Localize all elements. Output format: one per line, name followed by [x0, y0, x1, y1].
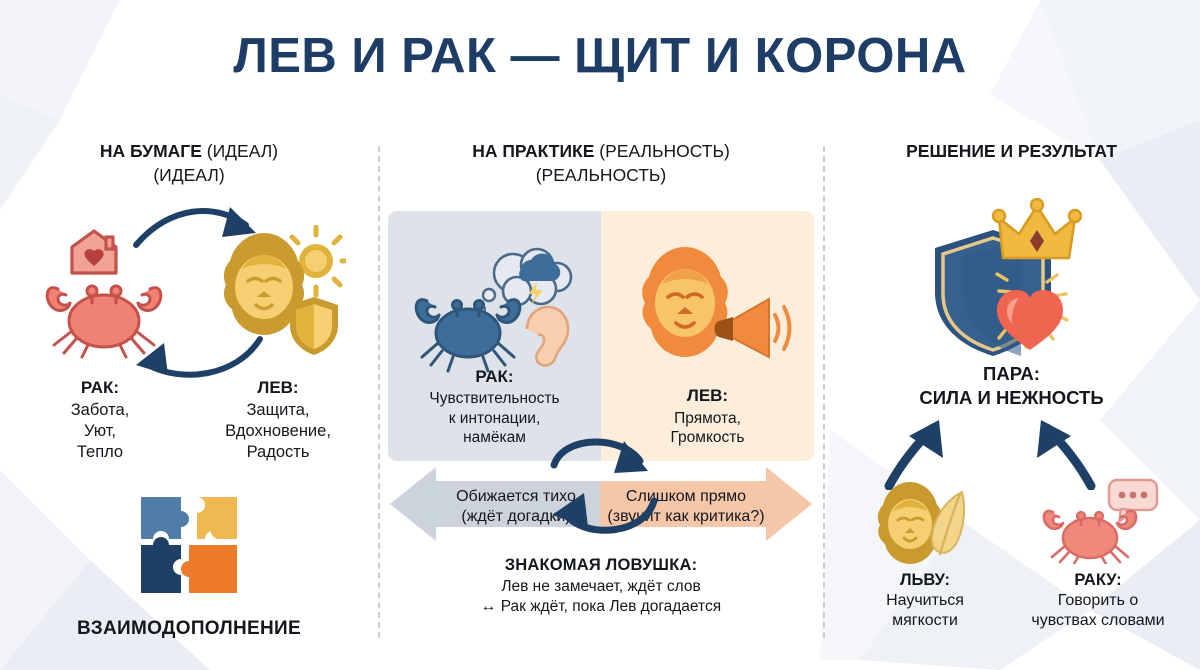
leo-practice-lines: Прямота, Громкость — [671, 410, 745, 446]
practice-panel-left: РАК: Чувствительность к интонации, намёк… — [388, 211, 601, 461]
leo-practice-title: ЛЕВ: — [601, 385, 814, 406]
practice-panel: РАК: Чувствительность к интонации, намёк… — [388, 211, 814, 461]
column1-heading-line2: (ИДЕАЛ) — [153, 165, 224, 185]
cancer-practice-title: РАК: — [388, 366, 601, 387]
advice-leo-text: ЛЬВУ: Научиться мягкости — [845, 570, 1005, 632]
column-on-paper: НА БУМАГЕ (ИДЕАЛ) (ИДЕАЛ) — [10, 140, 368, 640]
arrow-up-right — [1021, 420, 1111, 490]
familiar-trap-block: ЗНАКОМАЯ ЛОВУШКА: Лев не замечает, ждёт … — [388, 555, 814, 618]
pair-result-label: ПАРА: СИЛА И НЕЖНОСТЬ — [833, 362, 1190, 410]
cancer-ideal-lines: Забота, Уют, Тепло — [24, 400, 176, 463]
ear-icon — [527, 307, 568, 366]
column-solution: РЕШЕНИЕ И РЕЗУЛЬТАТ — [833, 140, 1190, 631]
advice-cancer-icon-wrap — [1018, 478, 1178, 564]
conflict-arrows-row: Обижается тихо (ждёт догадки) Слишком пр… — [388, 465, 814, 543]
crown-icon — [993, 199, 1081, 258]
advice-leo-lines: Научиться мягкости — [886, 592, 964, 629]
column3-heading-text: РЕШЕНИЕ И РЕЗУЛЬТАТ — [906, 141, 1117, 161]
thundercloud-thought-icon — [477, 249, 571, 313]
page-title: ЛЕВ И РАК — ЩИТ И КОРОНА — [0, 28, 1200, 84]
column-divider-2 — [823, 146, 825, 638]
advice-row: ЛЬВУ: Научиться мягкости — [833, 478, 1190, 632]
advice-leo-title: ЛЬВУ: — [845, 570, 1005, 591]
practice-panel-right: ЛЕВ: Прямота, Громкость — [601, 211, 814, 461]
advice-cancer: РАКУ: Говорить о чувствах словами — [1018, 478, 1178, 632]
converging-arrows — [833, 414, 1190, 484]
column2-heading-bold: НА ПРАКТИКЕ — [472, 141, 594, 161]
puzzle-label: ВЗАИМОДОПОЛНЕНИЕ — [10, 618, 368, 640]
advice-cancer-lines: Говорить о чувствах словами — [1031, 592, 1164, 629]
puzzle-section: ВЗАИМОДОПОЛНЕНИЕ — [10, 491, 368, 640]
shield-crown-heart-group — [833, 198, 1190, 358]
advice-cancer-title: РАКУ: — [1018, 570, 1178, 591]
arrow-arc-to-lion — [130, 199, 270, 259]
shield-crown-heart-icon — [907, 198, 1117, 358]
familiar-trap-line2: ↔ Рак ждёт, пока Лев догадается — [481, 598, 721, 615]
column2-heading-line2: (РЕАЛЬНОСТЬ) — [536, 165, 667, 185]
crab-speech-bubble-icon — [1035, 478, 1161, 564]
advice-cancer-text: РАКУ: Говорить о чувствах словами — [1018, 570, 1178, 632]
feather-icon — [932, 492, 964, 554]
puzzle-icon — [135, 491, 243, 599]
column1-heading: НА БУМАГЕ (ИДЕАЛ) (ИДЕАЛ) — [10, 140, 368, 187]
pair-line1: ПАРА: — [983, 363, 1040, 384]
advice-leo-icon-wrap — [845, 478, 1005, 564]
column2-heading-paren: (РЕАЛЬНОСТЬ) — [599, 141, 730, 161]
familiar-trap-title: ЗНАКОМАЯ ЛОВУШКА: — [388, 555, 814, 577]
arrow-arc-to-crab — [120, 331, 270, 391]
column1-heading-paren: (ИДЕАЛ) — [207, 141, 278, 161]
column-in-practice: НА ПРАКТИКЕ (РЕАЛЬНОСТЬ) (РЕАЛЬНОСТЬ) — [388, 140, 814, 618]
familiar-trap-line1: Лев не замечает, ждёт слов — [501, 578, 700, 595]
pair-line2: СИЛА И НЕЖНОСТЬ — [919, 387, 1103, 408]
leo-ideal-lines: Защита, Вдохновение, Радость — [202, 400, 354, 463]
column-divider-1 — [378, 146, 380, 638]
column1-icons — [10, 211, 368, 371]
column3-heading: РЕШЕНИЕ И РЕЗУЛЬТАТ — [833, 140, 1190, 164]
blue-crab-icon — [416, 300, 520, 371]
lion-feather-icon — [866, 478, 984, 564]
column1-heading-bold: НА БУМАГЕ — [100, 141, 202, 161]
column2-heading: НА ПРАКТИКЕ (РЕАЛЬНОСТЬ) (РЕАЛЬНОСТЬ) — [388, 140, 814, 187]
advice-leo: ЛЬВУ: Научиться мягкости — [845, 478, 1005, 632]
arrow-up-left — [871, 420, 961, 490]
shield-icon — [290, 297, 338, 355]
blue-crab-thought-ear-icon — [405, 237, 585, 387]
orange-lion-megaphone-icon — [623, 237, 793, 387]
cycle-loop-arrows — [536, 429, 672, 557]
